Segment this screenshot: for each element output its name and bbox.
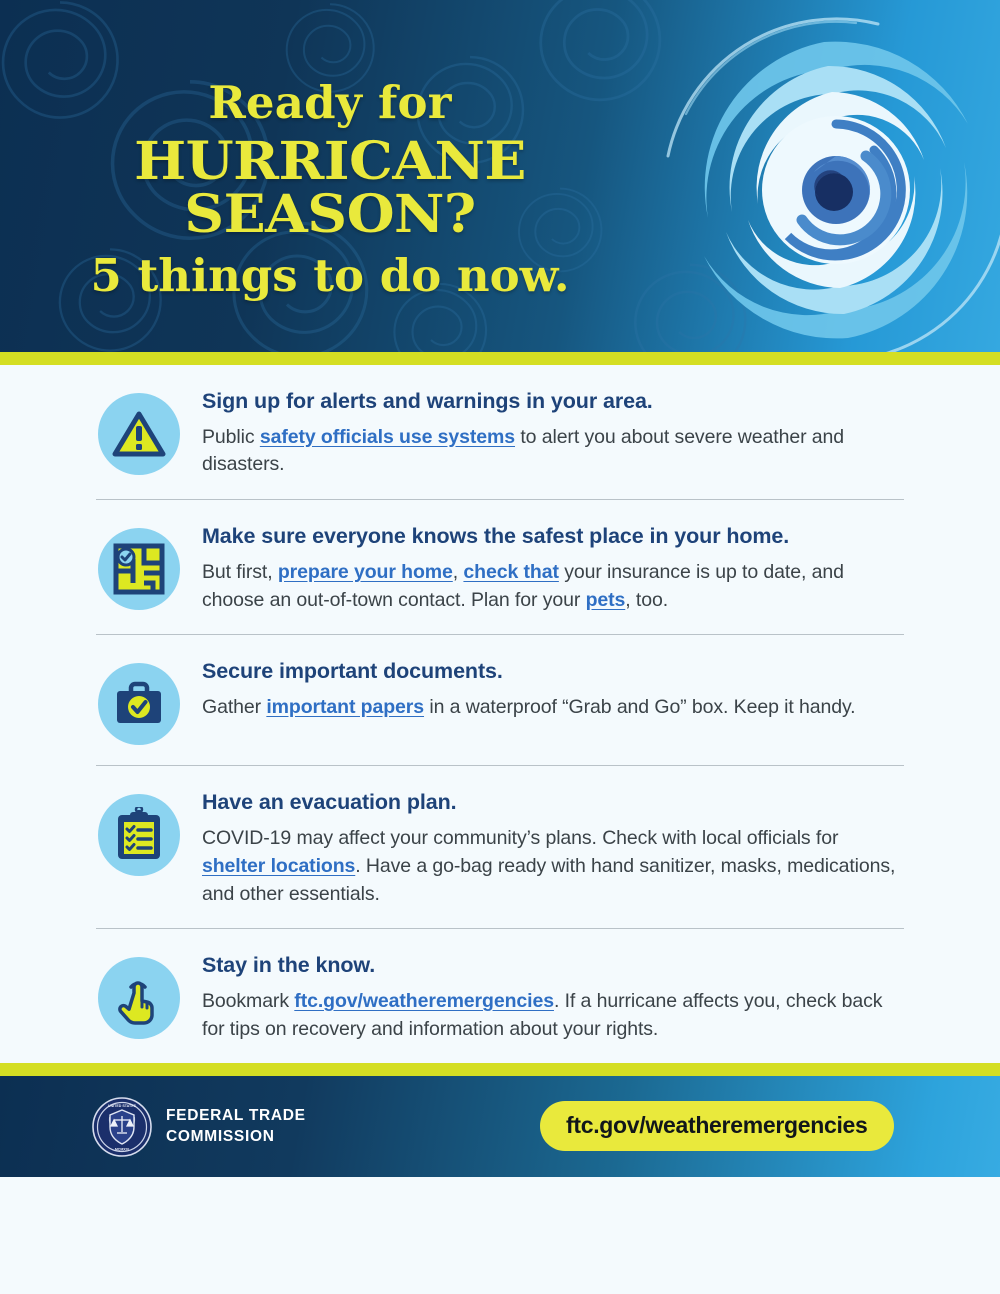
- clipboard-checklist-icon: [98, 794, 180, 876]
- title-line-3: 5 things to do now.: [0, 253, 660, 299]
- agency-name-line-2: COMMISSION: [166, 1127, 306, 1148]
- inline-link[interactable]: important papers: [266, 696, 424, 718]
- inline-link[interactable]: prepare your home: [278, 561, 453, 583]
- item-heading: Secure important documents.: [202, 659, 904, 685]
- text-segment: Gather: [202, 696, 266, 718]
- text-segment: Public: [202, 426, 260, 448]
- text-segment: in a waterproof “Grab and Go” box. Keep …: [424, 696, 855, 718]
- inline-link[interactable]: check that: [463, 561, 558, 583]
- svg-text:MCMXIV: MCMXIV: [115, 1147, 130, 1151]
- agency-name: FEDERAL TRADE COMMISSION: [166, 1106, 306, 1148]
- icon-container: [96, 387, 182, 475]
- icon-container: [96, 951, 182, 1039]
- item-text: Secure important documents. Gather impor…: [202, 657, 904, 721]
- icon-container: [96, 788, 182, 876]
- hurricane-spiral-icon: [636, 0, 1000, 352]
- icon-container: [96, 522, 182, 610]
- inline-link[interactable]: shelter locations: [202, 855, 355, 877]
- page-title: Ready for HURRICANE SEASON? 5 things to …: [0, 80, 660, 299]
- item-description: Gather important papers in a waterproof …: [202, 694, 904, 722]
- title-line-1: Ready for: [0, 80, 660, 126]
- item-heading: Sign up for alerts and warnings in your …: [202, 389, 904, 415]
- item-heading: Have an evacuation plan.: [202, 790, 904, 816]
- text-segment: COVID-19 may affect your community’s pla…: [202, 827, 838, 849]
- item-description: But first, prepare your home, check that…: [202, 559, 904, 614]
- header-banner: Ready for HURRICANE SEASON? 5 things to …: [0, 0, 1000, 352]
- list-item: Sign up for alerts and warnings in your …: [0, 365, 1000, 499]
- list-item: Stay in the know. Bookmark ftc.gov/weath…: [0, 929, 1000, 1063]
- footer-bar: UNITED STATES MCMXIV FEDERAL TRADE COMMI…: [0, 1076, 1000, 1177]
- infographic-page: Ready for HURRICANE SEASON? 5 things to …: [0, 0, 1000, 1294]
- list-item: Make sure everyone knows the safest plac…: [0, 500, 1000, 634]
- inline-link[interactable]: pets: [586, 589, 626, 611]
- list-item: Secure important documents. Gather impor…: [0, 635, 1000, 765]
- item-text: Stay in the know. Bookmark ftc.gov/weath…: [202, 951, 904, 1043]
- pointing-hand-tap-icon: [98, 957, 180, 1039]
- item-heading: Make sure everyone knows the safest plac…: [202, 524, 904, 550]
- text-segment: , too.: [625, 589, 668, 611]
- item-description: Bookmark ftc.gov/weatheremergencies. If …: [202, 988, 904, 1043]
- item-heading: Stay in the know.: [202, 953, 904, 979]
- list-item: Have an evacuation plan. COVID-19 may af…: [0, 766, 1000, 928]
- item-description: COVID-19 may affect your community’s pla…: [202, 825, 904, 908]
- icon-container: [96, 657, 182, 745]
- text-segment: But first,: [202, 561, 278, 583]
- footer-accent-bar: [0, 1063, 1000, 1076]
- item-text: Have an evacuation plan. COVID-19 may af…: [202, 788, 904, 908]
- header-accent-bar: [0, 352, 1000, 365]
- inline-link[interactable]: safety officials use systems: [260, 426, 515, 448]
- tips-list: Sign up for alerts and warnings in your …: [0, 365, 1000, 1063]
- floor-plan-icon: [98, 528, 180, 610]
- ftc-branding: UNITED STATES MCMXIV FEDERAL TRADE COMMI…: [92, 1097, 306, 1157]
- title-line-2: HURRICANE SEASON?: [0, 135, 680, 241]
- url-badge[interactable]: ftc.gov/weatheremergencies: [540, 1101, 894, 1151]
- item-text: Sign up for alerts and warnings in your …: [202, 387, 904, 479]
- svg-text:UNITED STATES: UNITED STATES: [108, 1104, 137, 1108]
- briefcase-check-icon: [98, 663, 180, 745]
- item-text: Make sure everyone knows the safest plac…: [202, 522, 904, 614]
- text-segment: Bookmark: [202, 990, 294, 1012]
- ftc-seal-icon: UNITED STATES MCMXIV: [92, 1097, 152, 1157]
- warning-triangle-icon: [98, 393, 180, 475]
- inline-link[interactable]: ftc.gov/weatheremergencies: [294, 990, 554, 1012]
- text-segment: ,: [453, 561, 464, 583]
- item-description: Public safety officials use systems to a…: [202, 424, 904, 479]
- agency-name-line-1: FEDERAL TRADE: [166, 1106, 306, 1127]
